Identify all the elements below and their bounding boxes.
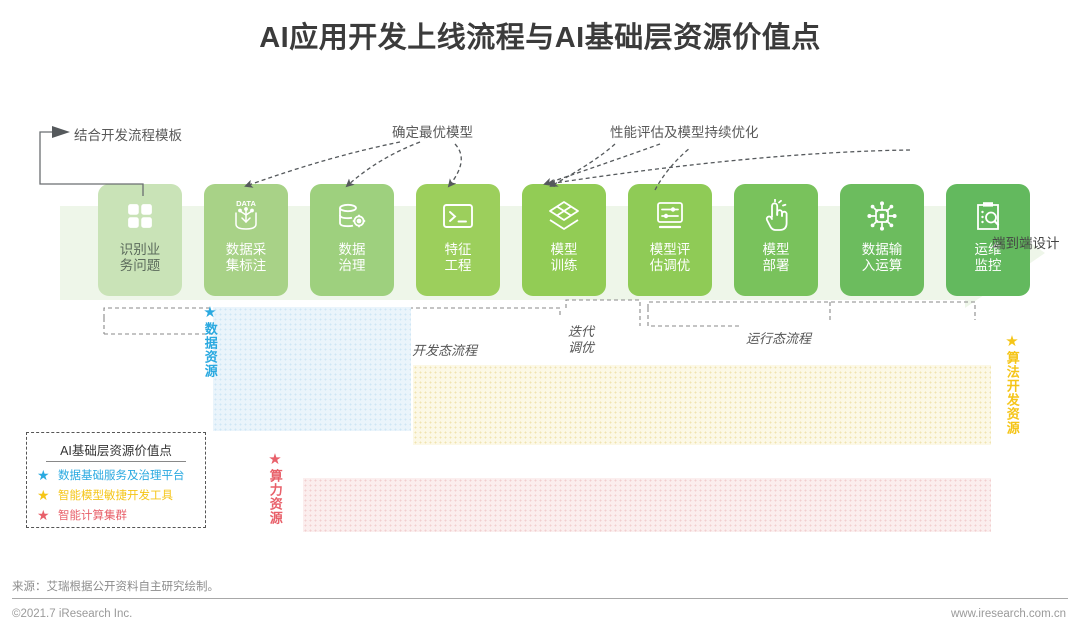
star-icon: ★: [37, 508, 51, 522]
legend-item-label: 数据基础服务及治理平台: [58, 467, 185, 483]
page-title: AI应用开发上线流程与AI基础层资源价值点: [0, 14, 1080, 56]
star-icon: ★: [203, 305, 216, 320]
flow-step-label: 数据输 入运算: [862, 242, 903, 273]
computing-resource-panel: [303, 478, 991, 532]
star-icon: ★: [37, 488, 51, 502]
database-gear-icon: [335, 195, 369, 237]
computing-resource-title: ★ 算力资源: [263, 452, 287, 525]
star-icon: ★: [37, 468, 51, 482]
terminal-icon: [441, 195, 475, 237]
data-collect-icon: DATA: [229, 195, 263, 237]
svg-text:DATA: DATA: [236, 199, 256, 208]
flow-step-6[interactable]: 模型评 估调优: [628, 184, 712, 296]
legend-title: AI基础层资源价值点: [46, 440, 186, 462]
data-resource-panel: [213, 307, 411, 431]
clipboard-search-icon: [972, 195, 1004, 237]
flow-step-label: 数据 治理: [339, 242, 366, 273]
tune-sliders-icon: [653, 195, 687, 237]
flow-step-1[interactable]: 识别业 务问题: [98, 184, 182, 296]
source-note: 来源：艾瑞根据公开资料自主研究绘制。: [12, 578, 219, 594]
star-icon: ★: [268, 452, 281, 467]
flow-step-7[interactable]: 模型 部署: [734, 184, 818, 296]
phase-label-dev: 开发态流程: [412, 340, 477, 359]
flow-step-8[interactable]: 数据输 入运算: [840, 184, 924, 296]
click-hand-icon: [760, 195, 792, 237]
flow-step-label: 数据采 集标注: [226, 242, 267, 273]
flow-step-label: 识别业 务问题: [120, 242, 161, 273]
website-url: www.iresearch.com.cn: [951, 608, 1066, 620]
flow-step-label: 模型评 估调优: [650, 242, 691, 273]
legend-box: AI基础层资源价值点 ★ 数据基础服务及治理平台 ★ 智能模型敏捷开发工具 ★ …: [26, 432, 206, 528]
legend-item-computing: ★ 智能计算集群: [33, 507, 199, 523]
phase-label-runtime: 运行态流程: [746, 328, 811, 347]
data-resource-label: 数据资源: [203, 322, 217, 378]
flow-step-3[interactable]: 数据 治理: [310, 184, 394, 296]
flow-step-2[interactable]: DATA 数据采 集标注: [204, 184, 288, 296]
top-note-template: 结合开发流程模板: [74, 124, 182, 144]
layers-diamond-icon: [547, 195, 581, 237]
footer-divider: [12, 598, 1068, 599]
flow-step-5[interactable]: 模型 训练: [522, 184, 606, 296]
legend-item-data: ★ 数据基础服务及治理平台: [33, 467, 199, 483]
copyright-text: ©2021.7 iResearch Inc.: [12, 608, 132, 620]
phase-label-iteration: 迭代 调优: [568, 324, 594, 357]
infographic-root: AI应用开发上线流程与AI基础层资源价值点 结合开发流程模板 确定最优模型 性能…: [0, 0, 1080, 639]
flow-step-4[interactable]: 特征 工程: [416, 184, 500, 296]
chip-network-icon: [865, 195, 899, 237]
data-resource-title: ★ 数据资源: [198, 305, 222, 378]
algorithm-resource-title: ★ 算法开发资源: [1000, 334, 1024, 435]
algorithm-resource-label: 算法开发资源: [1005, 351, 1019, 435]
grid-squares-icon: [125, 195, 155, 237]
flow-step-label: 模型 部署: [763, 242, 790, 273]
top-note-best-model: 确定最优模型: [392, 121, 473, 141]
computing-resource-label: 算力资源: [268, 469, 282, 525]
legend-item-algorithm: ★ 智能模型敏捷开发工具: [33, 487, 199, 503]
legend-item-label: 智能模型敏捷开发工具: [58, 487, 173, 503]
algorithm-resource-panel: [413, 365, 991, 445]
flow-step-label: 特征 工程: [445, 242, 472, 273]
end-to-end-design-label: 端到端设计: [992, 232, 1060, 252]
star-icon: ★: [1005, 334, 1018, 349]
legend-item-label: 智能计算集群: [58, 507, 127, 523]
top-note-perf-eval: 性能评估及模型持续优化: [610, 121, 759, 141]
flow-step-label: 模型 训练: [551, 242, 578, 273]
